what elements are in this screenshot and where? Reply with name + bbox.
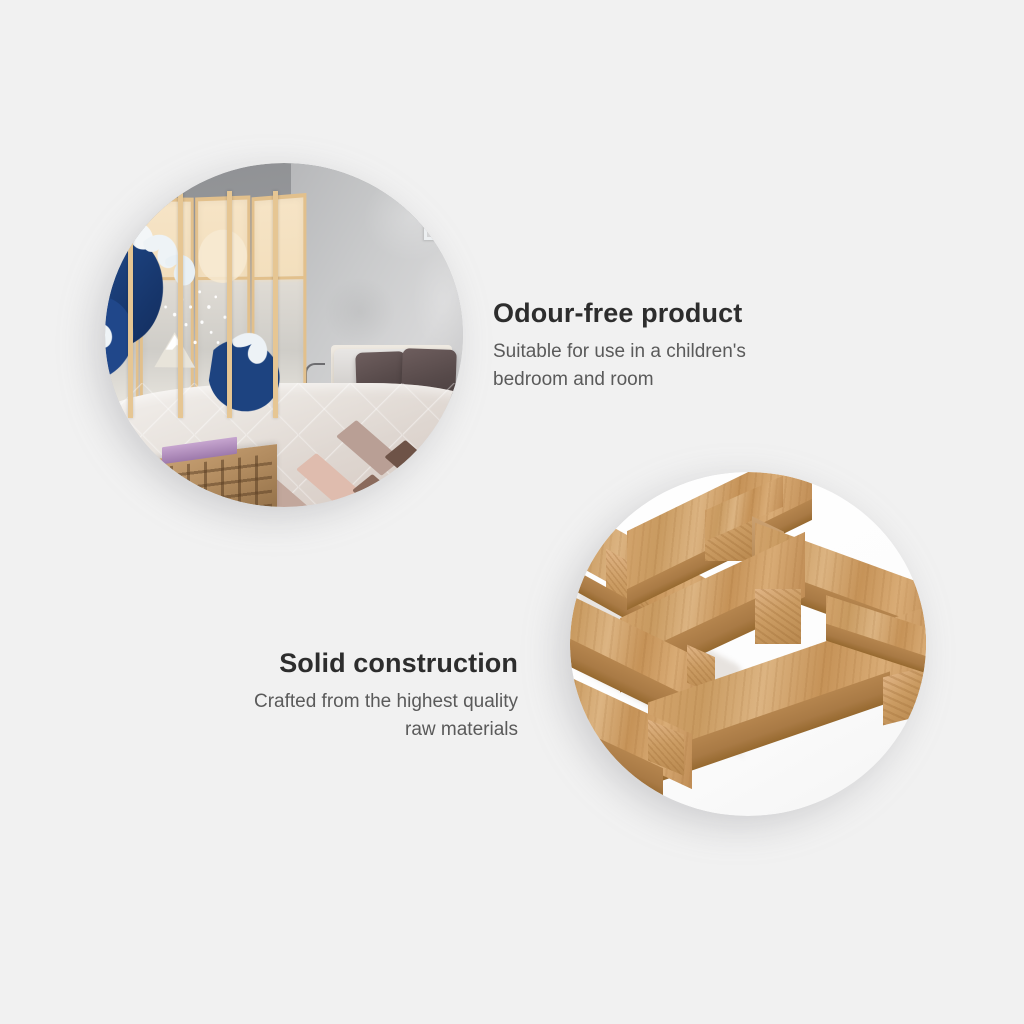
feature-subtitle-solid-construction: Crafted from the highest quality raw mat… [130, 688, 518, 744]
feature-title-solid-construction: Solid construction [130, 648, 518, 679]
timber-scene [570, 472, 926, 816]
feature-image-stacked-timber-planks [570, 472, 926, 816]
feature-subtitle-odour-free: Suitable for use in a children's bedroom… [493, 338, 893, 394]
feature-text-solid-construction: Solid construction Crafted from the high… [130, 648, 518, 744]
bedroom-scene [105, 163, 463, 507]
timber-photo [570, 472, 926, 816]
screen-panel [105, 198, 138, 410]
bedroom-photo [105, 163, 463, 507]
screen-panel [252, 193, 307, 414]
picture-frame-corner [424, 205, 454, 240]
screen-hinge [178, 190, 183, 417]
feature-image-bedroom-with-folding-screen [105, 163, 463, 507]
screen-panel [140, 198, 194, 410]
product-feature-infographic: Odour-free product Suitable for use in a… [0, 0, 1024, 1024]
screen-hinge [128, 190, 133, 417]
feature-title-odour-free: Odour-free product [493, 298, 893, 329]
plank-end-grain [883, 666, 926, 725]
screen-hinge [273, 190, 278, 417]
feature-text-odour-free: Odour-free product Suitable for use in a… [493, 298, 893, 394]
screen-panel [195, 196, 251, 413]
plank-end-grain [755, 589, 801, 644]
screen-hinge [227, 190, 232, 417]
